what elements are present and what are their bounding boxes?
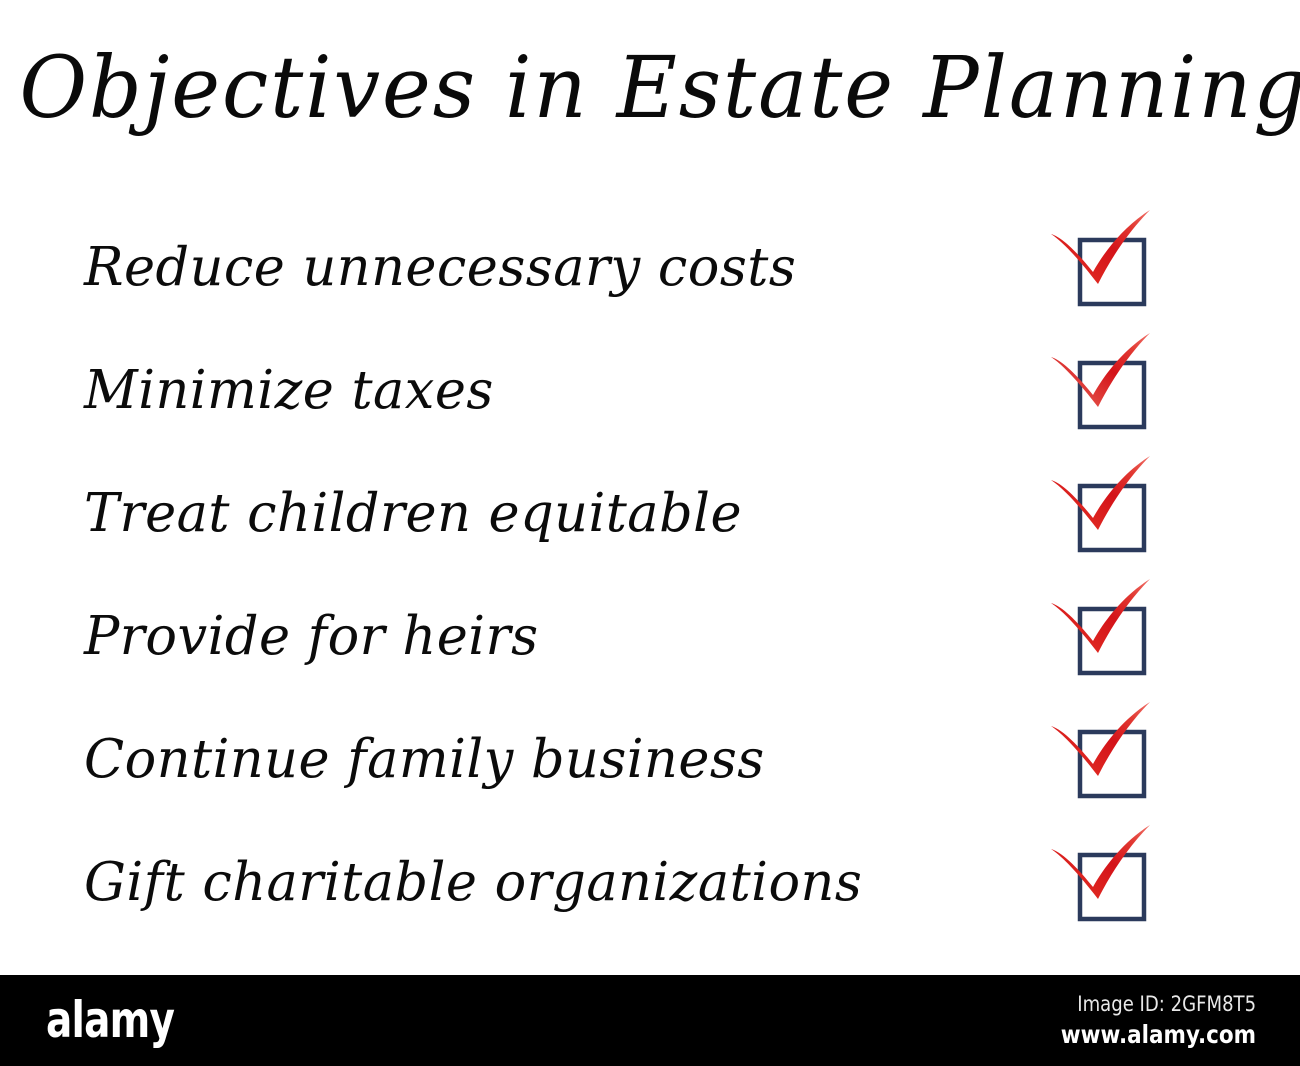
watermark-meta: Image ID: 2GFM8T5 www.alamy.com [1029,989,1256,1051]
checkbox-checked[interactable] [1046,581,1166,691]
image-canvas: Objectives in Estate Planning Reduce unn… [0,0,1300,1066]
page-title: Objectives in Estate Planning [20,46,1281,131]
alamy-logo: alamy [46,993,174,1048]
list-item: Minimize taxes [0,329,1300,452]
list-item: Continue family business [0,698,1300,821]
checkbox-checked[interactable] [1046,458,1166,568]
list-item: Reduce unnecessary costs [0,206,1300,329]
checkbox-checked[interactable] [1046,704,1166,814]
list-item: Treat children equitable [0,452,1300,575]
objectives-checklist: Reduce unnecessary costs [0,206,1300,944]
alamy-url: www.alamy.com [1061,1019,1256,1051]
list-item: Provide for heirs [0,575,1300,698]
list-item-label: Minimize taxes [84,329,494,452]
checkbox-checked[interactable] [1046,335,1166,445]
image-id-label: Image ID: 2GFM8T5 [1061,989,1256,1019]
checkbox-checked[interactable] [1046,827,1166,937]
list-item-label: Treat children equitable [84,452,742,575]
watermark-bar: alamy Image ID: 2GFM8T5 www.alamy.com [0,975,1300,1066]
list-item-label: Gift charitable organizations [84,821,862,944]
checkbox-checked[interactable] [1046,212,1166,322]
list-item-label: Provide for heirs [84,575,539,698]
list-item-label: Reduce unnecessary costs [84,206,796,329]
list-item: Gift charitable organizations [0,821,1300,944]
list-item-label: Continue family business [84,698,765,821]
